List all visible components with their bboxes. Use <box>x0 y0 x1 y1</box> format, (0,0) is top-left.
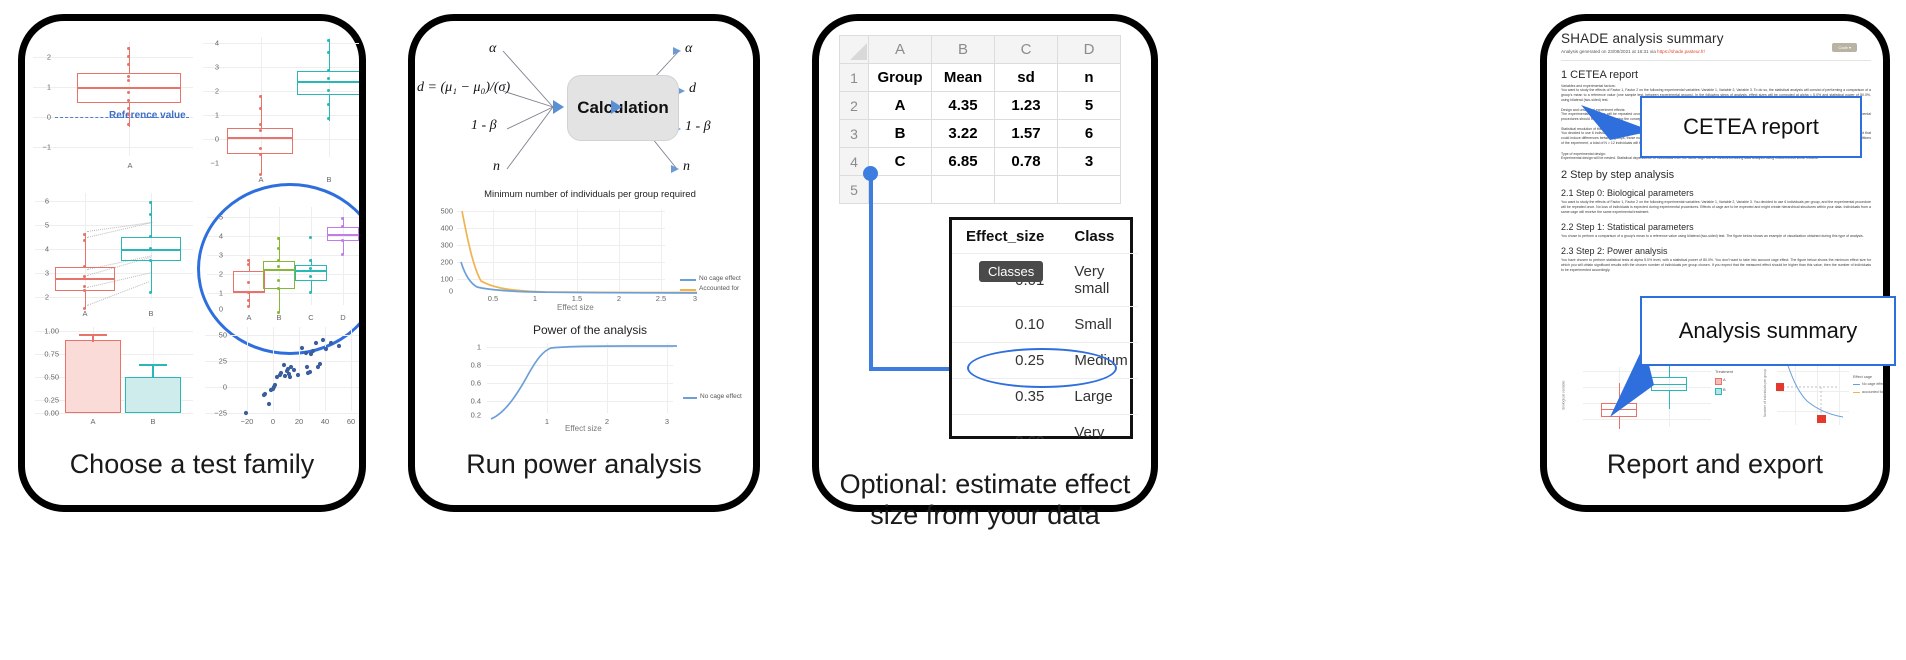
tick-label: B <box>150 417 155 426</box>
connector-horizontal <box>869 367 953 371</box>
report-legend2-item-1: No cage effect <box>1862 382 1883 386</box>
whisker-upper-a <box>129 47 130 73</box>
input-effect-size-formula: d = (μ₁ − μ₀)/(σ) <box>417 80 510 96</box>
spreadsheet-column-header-row: A B C D <box>840 36 1121 64</box>
panel-report-and-export: Code ▾ SHADE analysis summary Analysis g… <box>1540 14 1890 512</box>
legend-label-no-cage: No cage effect <box>699 275 741 282</box>
tick-label: A <box>82 309 87 318</box>
subsection-heading-2-2: 2.2 Step 1: Statistical parameters <box>1561 222 1871 232</box>
effect-size-value-4: 0.60 <box>952 415 1060 440</box>
section-heading-2: 2 Step by step analysis <box>1561 169 1871 181</box>
cell-b3[interactable]: 3.22 <box>932 120 995 148</box>
legend-label-accounted: Accounted for <box>699 285 739 292</box>
effect-size-class-4: Very large <box>1060 415 1137 440</box>
table-row[interactable]: 5 <box>840 176 1121 204</box>
subsection-heading-2-1: 2.1 Step 0: Biological parameters <box>1561 188 1871 198</box>
cell-c3[interactable]: 1.57 <box>995 120 1058 148</box>
subsection-text-2-2: You chose to perform a comparison of a g… <box>1561 234 1871 239</box>
output-alpha: α <box>685 41 692 57</box>
panel-caption-2: Run power analysis <box>415 449 753 480</box>
cell-d1[interactable]: n <box>1058 64 1121 92</box>
table-row[interactable]: 1 Group Mean sd n <box>840 64 1121 92</box>
column-header-a[interactable]: A <box>869 36 932 64</box>
legend-swatch-no-cage <box>680 279 696 281</box>
axis-label-effect-size: Effect size <box>557 303 594 312</box>
output-n: n <box>683 159 690 175</box>
column-header-d[interactable]: D <box>1058 36 1121 64</box>
tick-label: −1 <box>200 159 219 168</box>
tick-label: A <box>258 175 263 184</box>
code-toggle-button[interactable]: Code ▾ <box>1832 43 1857 52</box>
tick-label: B <box>326 175 331 184</box>
report-figure-ylabel: Biological variable <box>1561 381 1565 410</box>
cell-c4[interactable]: 0.78 <box>995 148 1058 176</box>
tick-label: 0 <box>35 113 51 122</box>
table-row[interactable]: 0.10 Small <box>952 307 1138 343</box>
arrow-into-calculation <box>553 100 564 114</box>
tick-label: 2 <box>203 87 219 96</box>
report-legend-item-a: A <box>1723 377 1726 382</box>
chart-paired-boxplot: 6 5 4 3 2 <box>35 189 193 319</box>
median-b <box>297 81 359 83</box>
panel-caption-4: Report and export <box>1547 449 1883 480</box>
cell-c1[interactable]: sd <box>995 64 1058 92</box>
median-a <box>77 87 181 89</box>
tick-label: A <box>90 417 95 426</box>
reference-value-label: Reference value <box>109 110 186 121</box>
cell-c2[interactable]: 1.23 <box>995 92 1058 120</box>
select-all-corner[interactable] <box>840 36 869 64</box>
cell-a5[interactable] <box>869 176 932 204</box>
row-number-5[interactable]: 5 <box>840 176 869 204</box>
cell-b2[interactable]: 4.35 <box>932 92 995 120</box>
classes-tooltip: Classes <box>979 261 1043 282</box>
tick-label: B <box>148 309 153 318</box>
column-header-c[interactable]: C <box>995 36 1058 64</box>
header-effect-size: Effect_size <box>952 220 1060 254</box>
tick-label: −1 <box>32 143 51 152</box>
effect-size-value-1: 0.10 <box>952 307 1060 343</box>
cell-a2[interactable]: A <box>869 92 932 120</box>
effect-size-header-row: Effect_size Class <box>952 220 1138 254</box>
tick-label: 4 <box>35 245 49 254</box>
tick-label: 2 <box>35 293 49 302</box>
subsection-text-2-3: You have chosen to perform statistical t… <box>1561 258 1871 273</box>
workflow-figure: 2 1 0 −1 Reference value <box>0 0 1906 660</box>
tick-label: 6 <box>35 197 49 206</box>
row-number-2[interactable]: 2 <box>840 92 869 120</box>
cell-a4[interactable]: C <box>869 148 932 176</box>
table-row[interactable]: 0.60 Very large <box>952 415 1138 440</box>
arrow-out-calculation <box>611 100 622 114</box>
report-link[interactable]: https://shade.pasteur.fr/ <box>1657 49 1705 54</box>
cell-d2[interactable]: 5 <box>1058 92 1121 120</box>
tick-label: 1 <box>203 111 219 120</box>
report-subtitle-text: Analysis generated on 23/08/2021 at 16:3… <box>1561 49 1657 54</box>
report-subtitle: Analysis generated on 23/08/2021 at 16:3… <box>1561 49 1871 54</box>
tick-label: 1.00 <box>35 327 59 336</box>
data-spreadsheet[interactable]: A B C D 1 Group Mean sd n 2 A 4.35 1.23 <box>839 35 1121 204</box>
input-n: n <box>493 159 500 175</box>
tick-label: 0.25 <box>35 396 59 405</box>
callout-analysis-summary: Analysis summary <box>1640 296 1896 366</box>
panel-caption-1: Choose a test family <box>25 449 359 480</box>
tick-label: A <box>127 161 132 170</box>
chart-power-of-analysis: Power of the analysis 1 0.8 0.6 0.4 0.2 … <box>425 323 753 433</box>
axis-label-effect-size-2: Effect size <box>565 424 602 433</box>
effect-size-class-0: Very small <box>1060 254 1137 307</box>
connector-vertical <box>869 173 873 369</box>
report-legend-title: Treatment <box>1715 369 1733 374</box>
tick-label: 0.50 <box>35 373 59 382</box>
column-header-b[interactable]: B <box>932 36 995 64</box>
input-power: 1 - β <box>471 118 497 134</box>
diagram-power-inputs-outputs: α d = (μ₁ − μ₀)/(σ) 1 - β n Calculation … <box>415 29 753 189</box>
tick-label: 0 <box>203 135 219 144</box>
legend-swatch-accounted <box>680 289 696 291</box>
cell-b1[interactable]: Mean <box>932 64 995 92</box>
panel-choose-test-family: 2 1 0 −1 Reference value <box>18 14 366 512</box>
effect-size-class-table: Effect_size Class 0.01 Very small 0.10 S… <box>949 217 1133 439</box>
row-number-3[interactable]: 3 <box>840 120 869 148</box>
panel-caption-3-line1: Optional: estimate effect <box>840 469 1131 499</box>
cell-d3[interactable]: 6 <box>1058 120 1121 148</box>
section-heading-1: 1 CETEA report <box>1561 69 1871 81</box>
report-legend-item-b: B <box>1723 387 1726 392</box>
chart-min-individuals: Minimum number of individuals per group … <box>425 189 753 315</box>
output-d: d <box>689 81 696 97</box>
report-figure-legend-cage: Effect cage No cage effect accounted for <box>1853 375 1883 405</box>
tick-label: 5 <box>35 221 49 230</box>
effect-size-class-1: Small <box>1060 307 1137 343</box>
chart-proportion-barplot: 1.00 0.75 0.50 0.25 0.00 A B <box>35 321 193 433</box>
tick-label: 3 <box>203 63 219 72</box>
report-legend2-item-2: accounted for <box>1862 390 1883 394</box>
legend-label-power: No cage effect <box>700 393 742 400</box>
panel-run-power-analysis: α d = (μ₁ − μ₀)/(σ) 1 - β n Calculation … <box>408 14 760 512</box>
chart-two-group-boxplot: 4 3 2 1 0 −1 <box>203 29 359 179</box>
cell-b4[interactable]: 6.85 <box>932 148 995 176</box>
callout-cetea-report: CETEA report <box>1640 96 1862 158</box>
highlight-circle-large-row <box>967 348 1117 388</box>
cell-a3[interactable]: B <box>869 120 932 148</box>
panel-caption-3-line2: size from your data <box>870 500 1100 530</box>
tick-label: 3 <box>35 269 49 278</box>
bar-b <box>125 377 181 413</box>
bar-a <box>65 340 121 413</box>
cell-d5[interactable] <box>1058 176 1121 204</box>
header-class: Class <box>1060 220 1137 254</box>
subsection-heading-2-3: 2.3 Step 2: Power analysis <box>1561 246 1871 256</box>
divider <box>1561 60 1871 61</box>
report-figure-curve: Number of individuals per group <box>1763 357 1853 435</box>
cell-d4[interactable]: 3 <box>1058 148 1121 176</box>
cell-b5[interactable] <box>932 176 995 204</box>
report-curve-ylabel: Number of individuals per group <box>1763 369 1767 417</box>
cell-c5[interactable] <box>995 176 1058 204</box>
output-power: 1 - β <box>685 119 711 135</box>
tick-label: 0.00 <box>35 409 59 418</box>
subsection-text-2-1: You want to study the effects of Factor … <box>1561 200 1871 215</box>
median-a <box>227 137 293 139</box>
input-alpha: α <box>489 41 496 57</box>
report-figure-boxplot: Biological variable <box>1565 363 1713 431</box>
chart-correlation-scatter: 50 25 0 −25 −20 0 20 40 60 <box>205 321 359 433</box>
tick-label: 0.75 <box>35 350 59 359</box>
panel-caption-3: Optional: estimate effect size from your… <box>819 469 1151 531</box>
panel-estimate-effect-size: A B C D 1 Group Mean sd n 2 A 4.35 1.23 <box>812 14 1158 512</box>
tick-label: 2 <box>35 53 51 62</box>
report-legend2-title: Effect cage <box>1853 375 1872 379</box>
cell-a1[interactable]: Group <box>869 64 932 92</box>
table-row[interactable]: 2 A 4.35 1.23 5 <box>840 92 1121 120</box>
legend-swatch-power <box>683 397 697 399</box>
calculation-box: Calculation <box>567 75 679 141</box>
row-number-1[interactable]: 1 <box>840 64 869 92</box>
table-row[interactable]: 4 C 6.85 0.78 3 <box>840 148 1121 176</box>
tick-label: 4 <box>203 39 219 48</box>
report-title: SHADE analysis summary <box>1561 31 1871 46</box>
tick-label: 1 <box>35 83 51 92</box>
report-figure-legend-treatment: Treatment A B <box>1715 369 1759 409</box>
table-row[interactable]: 3 B 3.22 1.57 6 <box>840 120 1121 148</box>
scatter-points <box>205 321 359 433</box>
chart-one-sample-boxplot: 2 1 0 −1 Reference value <box>33 33 193 178</box>
